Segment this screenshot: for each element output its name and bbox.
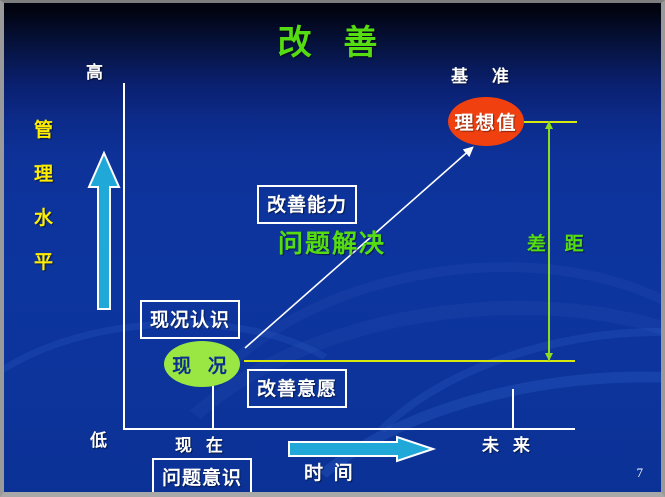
gap-label: 差 距 bbox=[527, 229, 590, 256]
ideal-value-node[interactable]: 理想值 bbox=[448, 97, 524, 146]
current-recognition-box[interactable]: 现况认识 bbox=[140, 300, 240, 339]
current-state-node[interactable]: 现 况 bbox=[164, 341, 240, 387]
improvement-will-box[interactable]: 改善意愿 bbox=[247, 369, 347, 408]
problem-awareness-box[interactable]: 问题意识 bbox=[152, 458, 252, 497]
page-number: 7 bbox=[637, 465, 644, 481]
presentation-slide: 改 善 高 低 现 在 未 来 基 准 管 理 水 平 bbox=[0, 0, 665, 497]
x-axis-title: 时 间 bbox=[304, 458, 355, 485]
improvement-ability-box[interactable]: 改善能力 bbox=[257, 185, 357, 224]
problem-solving-label: 问题解决 bbox=[278, 224, 386, 260]
